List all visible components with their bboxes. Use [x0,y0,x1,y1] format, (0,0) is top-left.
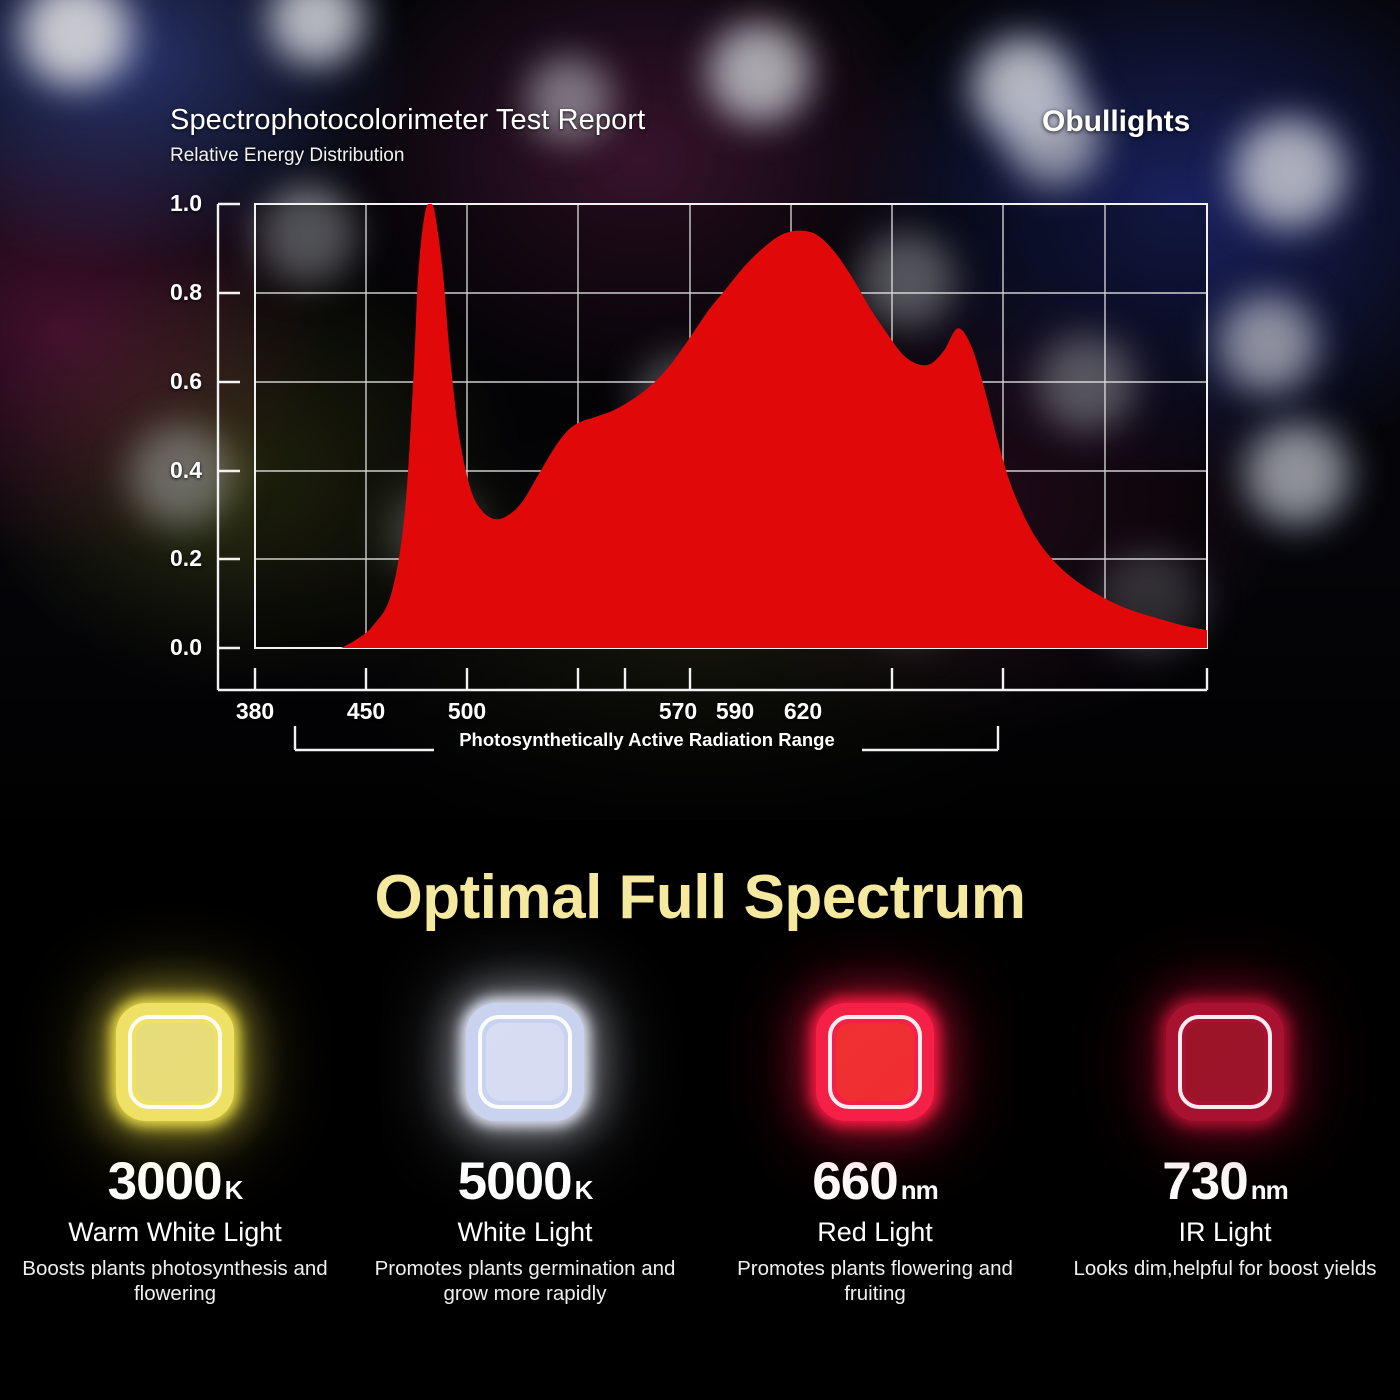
y-tick-label: 0.4 [142,457,202,484]
x-tick-label: 500 [422,698,512,725]
page-headline: Optimal Full Spectrum [0,862,1400,933]
card-description: Promotes plants germination and grow mor… [360,1256,690,1307]
spectrum-card: 3000K Warm White Light Boosts plants pho… [0,995,350,1335]
card-value-row: 3000K [108,1155,243,1208]
card-name: White Light [457,1218,592,1248]
x-tick-label: 380 [210,698,300,725]
card-name: IR Light [1178,1218,1271,1248]
card-description: Boosts plants photosynthesis and floweri… [10,1256,340,1307]
card-unit: K [225,1177,243,1203]
x-tick-label: 620 [758,698,848,725]
card-description: Promotes plants flowering and fruiting [710,1256,1040,1307]
led-core [836,1023,914,1101]
x-tick-label: 450 [321,698,411,725]
par-range-label: Photosynthetically Active Radiation Rang… [437,729,857,751]
y-tick-label: 0.8 [142,279,202,306]
card-unit: K [575,1177,593,1203]
card-unit: nm [1251,1177,1288,1203]
card-value: 5000 [458,1155,572,1208]
card-name: Red Light [817,1218,933,1248]
y-axis [218,204,240,690]
card-name: Warm White Light [68,1218,282,1248]
led-chip-icon [816,1003,934,1121]
spectrum-card: 660nm Red Light Promotes plants flowerin… [700,995,1050,1335]
led-chip-icon [116,1003,234,1121]
card-value-row: 5000K [458,1155,593,1208]
spectrum-card: 5000K White Light Promotes plants germin… [350,995,700,1335]
card-value: 660 [812,1155,897,1208]
led-core [136,1023,214,1101]
spectrum-cards: 3000K Warm White Light Boosts plants pho… [0,995,1400,1335]
y-tick-label: 0.6 [142,368,202,395]
chart-plot-svg [0,0,1400,820]
y-tick-label: 0.2 [142,545,202,572]
card-value: 3000 [108,1155,222,1208]
led-chip-icon [1166,1003,1284,1121]
spectrum-card: 730nm IR Light Looks dim,helpful for boo… [1050,995,1400,1335]
card-value: 730 [1162,1155,1247,1208]
led-core [1186,1023,1264,1101]
spectrum-chart: Spectrophotocolorimeter Test Report Rela… [0,0,1400,820]
y-tick-label: 0.0 [142,634,202,661]
led-chip-icon [466,1003,584,1121]
led-core [486,1023,564,1101]
card-value-row: 660nm [812,1155,937,1208]
y-tick-label: 1.0 [142,190,202,217]
card-description: Looks dim,helpful for boost yields [1060,1256,1390,1281]
card-value-row: 730nm [1162,1155,1287,1208]
x-axis [218,668,1207,690]
card-unit: nm [901,1177,938,1203]
